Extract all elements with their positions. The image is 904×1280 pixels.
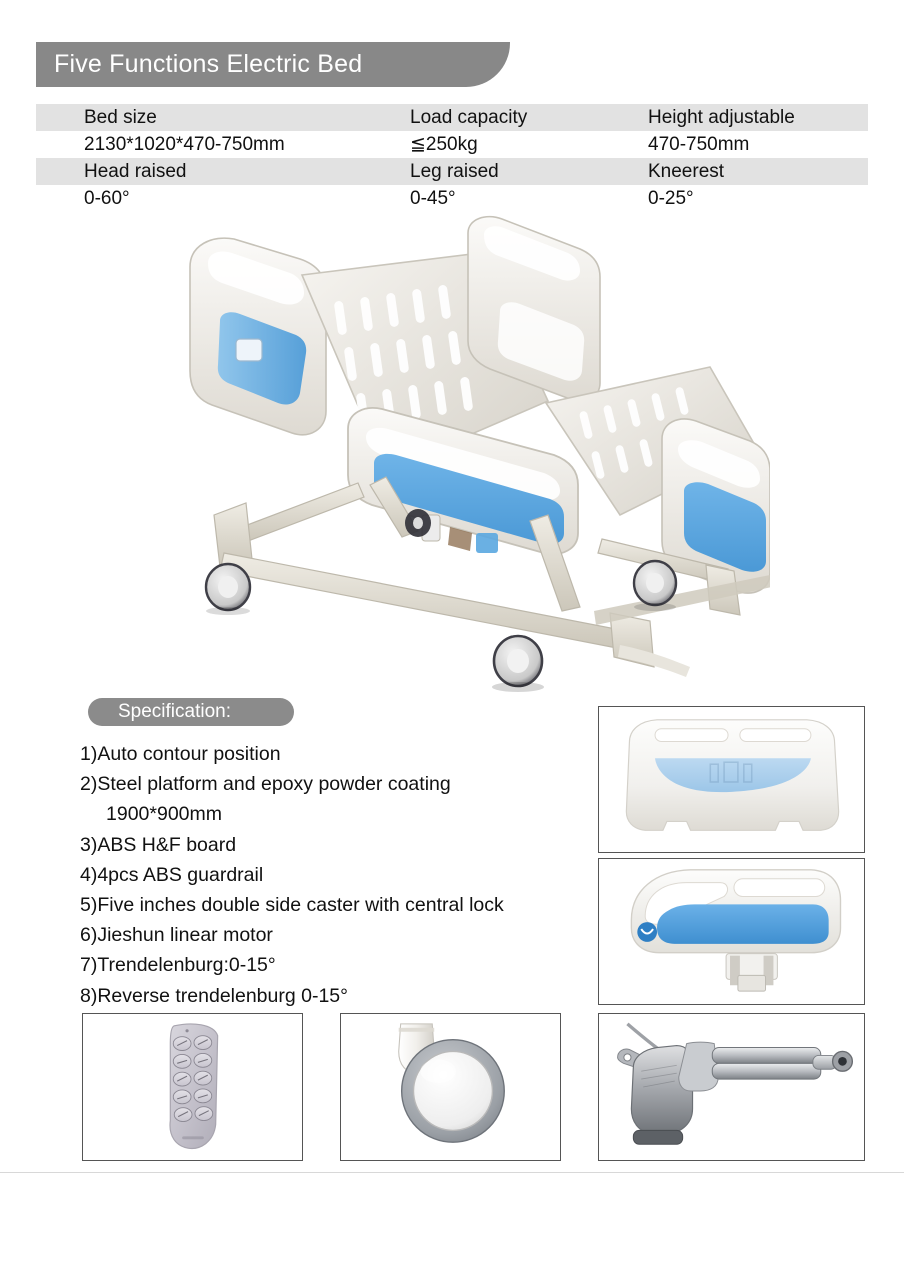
headend-guardrail-shape	[190, 238, 326, 435]
table-label-kneerest: Kneerest	[648, 158, 868, 185]
list-item: 1900*900mm	[80, 799, 590, 829]
footer-divider	[0, 1172, 904, 1173]
table-value-kneerest: 0-25°	[648, 185, 868, 212]
jieshun-linear-motor-photo	[598, 1013, 865, 1161]
list-item: 7)Trendelenburg:0-15°	[80, 950, 590, 980]
table-value-head-raised: 0-60°	[36, 185, 410, 212]
table-label-bed-size: Bed size	[36, 104, 410, 131]
table-row-labels-1: Bed size Load capacity Height adjustable	[36, 104, 868, 131]
specification-pill-label: Specification:	[88, 701, 231, 723]
list-item: 8)Reverse trendelenburg 0-15°	[80, 981, 590, 1011]
specification-table: Bed size Load capacity Height adjustable…	[36, 104, 868, 212]
table-value-load-capacity: ≦250kg	[410, 131, 648, 158]
specification-pill: Specification:	[88, 698, 294, 726]
list-item: 6)Jieshun linear motor	[80, 920, 590, 950]
page-title-banner: Five Functions Electric Bed	[36, 42, 510, 87]
five-functions-electric-bed-main-photo	[150, 215, 770, 695]
list-item: 1)Auto contour position	[80, 739, 590, 769]
list-item: 4)4pcs ABS guardrail	[80, 860, 590, 890]
abs-headboard-photo	[598, 706, 865, 853]
table-value-leg-raised: 0-45°	[410, 185, 648, 212]
abs-guardrail-photo	[598, 858, 865, 1005]
handheld-remote-control-photo	[82, 1013, 303, 1161]
table-value-height-adjustable: 470-750mm	[648, 131, 868, 158]
table-label-height-adjustable: Height adjustable	[648, 104, 868, 131]
list-item: 5)Five inches double side caster with ce…	[80, 890, 590, 920]
table-label-leg-raised: Leg raised	[410, 158, 648, 185]
specification-list: 1)Auto contour position 2)Steel platform…	[80, 739, 590, 1011]
page-title: Five Functions Electric Bed	[36, 50, 362, 79]
table-label-head-raised: Head raised	[36, 158, 410, 185]
table-row-values-1: 2130*1020*470-750mm ≦250kg 470-750mm	[36, 131, 868, 158]
five-inch-caster-wheel-photo	[340, 1013, 561, 1161]
table-row-labels-2: Head raised Leg raised Kneerest	[36, 158, 868, 185]
table-row-values-2: 0-60° 0-45° 0-25°	[36, 185, 868, 212]
table-label-load-capacity: Load capacity	[410, 104, 648, 131]
table-value-bed-size: 2130*1020*470-750mm	[36, 131, 410, 158]
list-item: 2)Steel platform and epoxy powder coatin…	[80, 769, 590, 799]
list-item: 3)ABS H&F board	[80, 830, 590, 860]
